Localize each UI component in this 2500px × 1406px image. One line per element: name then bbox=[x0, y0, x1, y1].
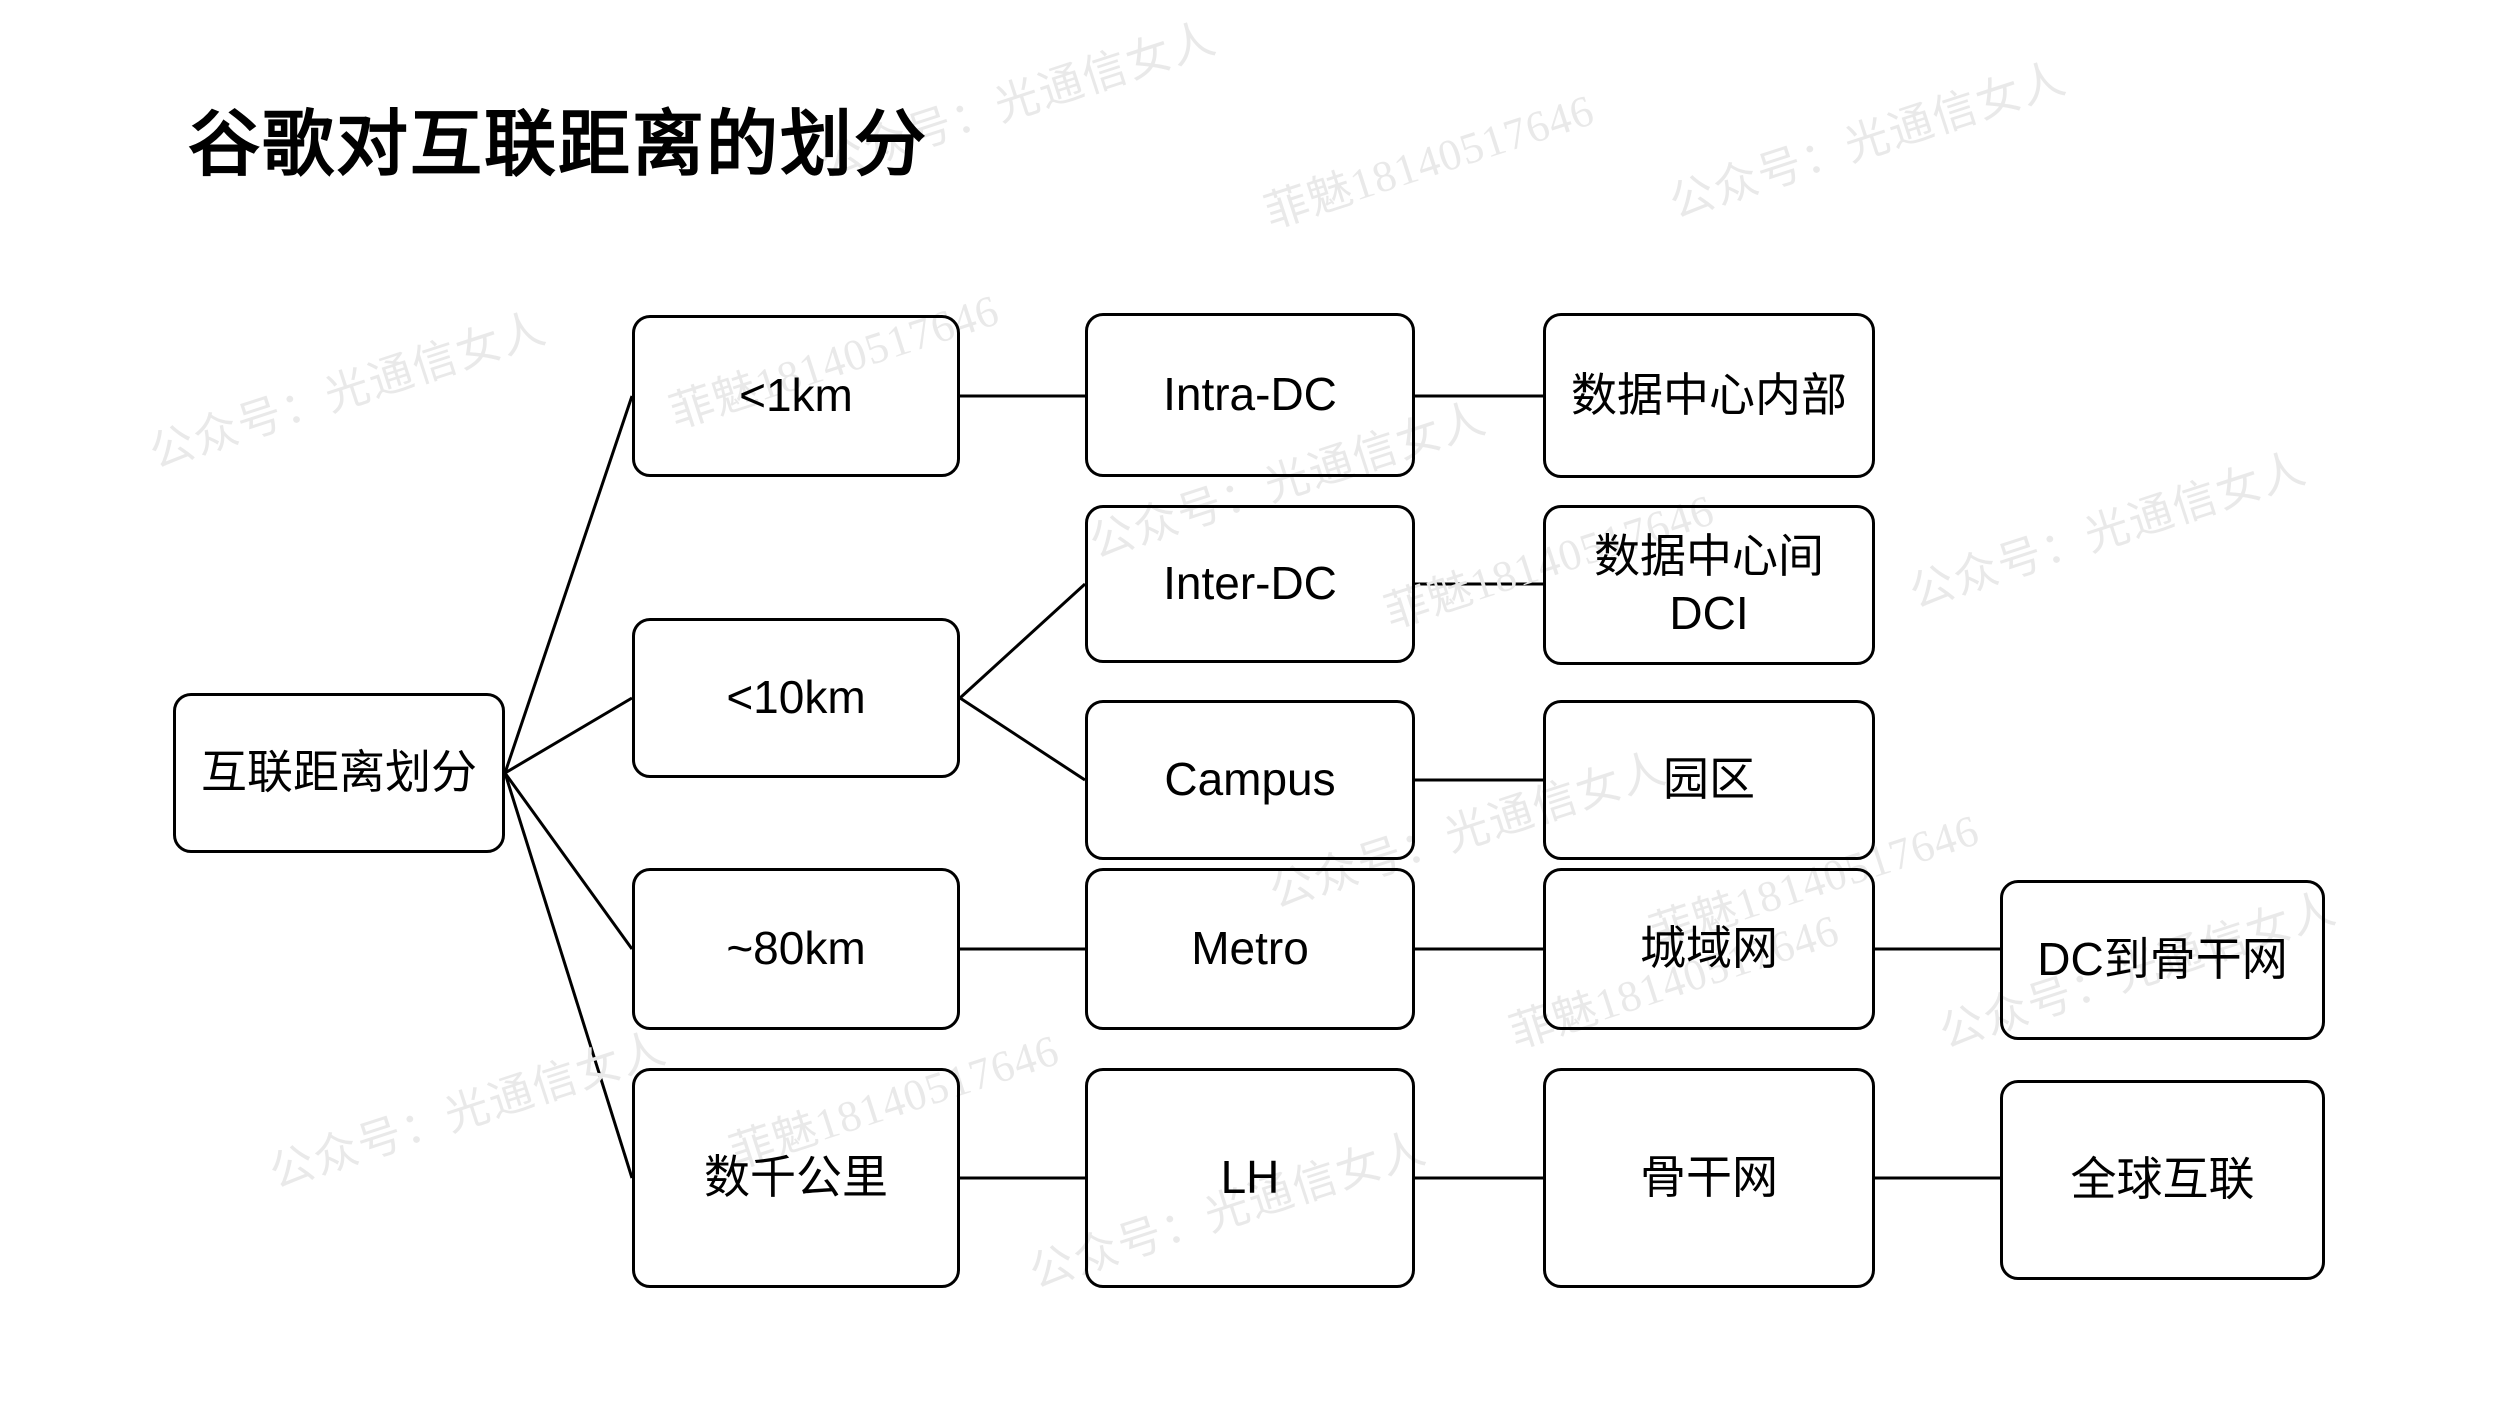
link-root-to-1000km bbox=[505, 773, 632, 1178]
link-root-to-80km bbox=[505, 773, 632, 949]
node-extra-dc-to-backbone[interactable]: DC到骨干网 bbox=[2000, 880, 2325, 1040]
node-distance-1km[interactable]: <1km bbox=[632, 315, 960, 477]
node-cn-datacenter-inter-label: 数据中心间 bbox=[1594, 528, 1824, 586]
slide-canvas: 公众号：光通信女人公众号：光通信女人公众号：光通信女人公众号：光通信女人公众号：… bbox=[0, 0, 2500, 1406]
node-type-metro[interactable]: Metro bbox=[1085, 868, 1415, 1030]
node-distance-80km-label: ~80km bbox=[726, 920, 865, 978]
node-distance-80km[interactable]: ~80km bbox=[632, 868, 960, 1030]
node-cn-metro-network-label: 城域网 bbox=[1640, 920, 1778, 978]
node-type-metro-label: Metro bbox=[1191, 920, 1309, 978]
node-cn-datacenter-inter-dci[interactable]: 数据中心间 DCI bbox=[1543, 505, 1875, 665]
node-extra-dc-to-backbone-label: DC到骨干网 bbox=[2037, 931, 2287, 989]
node-extra-global-interconnect-label: 全球互联 bbox=[2071, 1151, 2255, 1209]
page-title: 谷歌对互联距离的划分 bbox=[188, 85, 928, 190]
node-distance-10km[interactable]: <10km bbox=[632, 618, 960, 778]
node-cn-campus-park[interactable]: 园区 bbox=[1543, 700, 1875, 860]
link-root-to-10km bbox=[505, 698, 632, 773]
node-type-campus-label: Campus bbox=[1164, 751, 1335, 809]
node-distance-1km-label: <1km bbox=[739, 367, 853, 425]
node-distance-10km-label: <10km bbox=[726, 669, 865, 727]
node-type-intra-dc-label: Intra-DC bbox=[1163, 366, 1337, 424]
node-type-intra-dc[interactable]: Intra-DC bbox=[1085, 313, 1415, 477]
link-10km-to-campus bbox=[960, 698, 1085, 780]
node-cn-backbone-network-label: 骨干网 bbox=[1640, 1149, 1778, 1207]
node-type-campus[interactable]: Campus bbox=[1085, 700, 1415, 860]
node-cn-datacenter-internal-label: 数据中心内部 bbox=[1571, 367, 1847, 425]
node-cn-metro-network[interactable]: 城域网 bbox=[1543, 868, 1875, 1030]
node-root[interactable]: 互联距离划分 bbox=[173, 693, 505, 853]
node-type-lh-label: LH bbox=[1221, 1149, 1280, 1207]
node-cn-dci-label: DCI bbox=[1669, 585, 1748, 643]
node-type-lh[interactable]: LH bbox=[1085, 1068, 1415, 1288]
node-distance-thousands-km[interactable]: 数千公里 bbox=[632, 1068, 960, 1288]
node-root-label: 互联距离划分 bbox=[201, 744, 477, 802]
node-cn-backbone-network[interactable]: 骨干网 bbox=[1543, 1068, 1875, 1288]
node-type-inter-dc-label: Inter-DC bbox=[1163, 555, 1337, 613]
node-cn-campus-park-label: 园区 bbox=[1663, 751, 1755, 809]
link-10km-to-interdc bbox=[960, 584, 1085, 698]
link-root-to-1km bbox=[505, 396, 632, 773]
node-cn-datacenter-internal[interactable]: 数据中心内部 bbox=[1543, 313, 1875, 478]
node-distance-thousands-km-label: 数千公里 bbox=[704, 1149, 888, 1207]
node-extra-global-interconnect[interactable]: 全球互联 bbox=[2000, 1080, 2325, 1280]
node-type-inter-dc[interactable]: Inter-DC bbox=[1085, 505, 1415, 663]
